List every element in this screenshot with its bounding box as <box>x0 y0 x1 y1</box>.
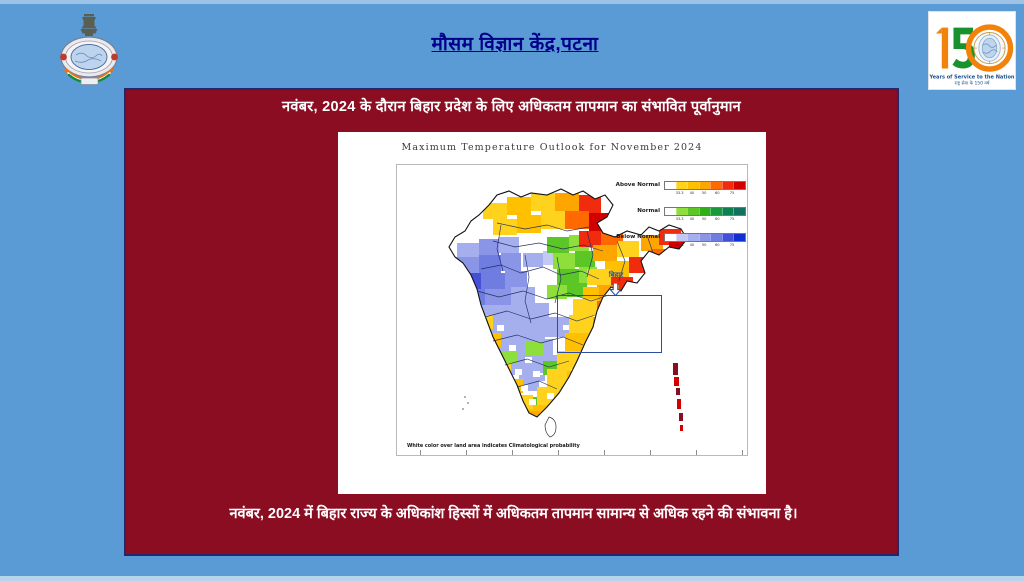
map-footnote: White color over land area indicates Cli… <box>407 443 580 449</box>
bihar-highlight-box <box>557 295 662 353</box>
slide-background: मौसम विज्ञान केंद्र,पटना <box>0 0 1024 581</box>
legend-bar-normal <box>664 207 746 216</box>
legend-ticks-above-normal: 33.3 40 50 60 75 <box>664 191 746 199</box>
legend-ticks-below-normal: 33.3 40 50 60 75 <box>664 243 746 251</box>
legend-label-below-normal: Below Normal <box>602 234 660 240</box>
legend-bar-below-normal <box>664 233 746 242</box>
legend-row-above-normal: Above Normal 33.3 40 50 60 75 <box>602 181 747 203</box>
legend-label-normal: Normal <box>602 208 660 214</box>
figure-title: Maximum Temperature Outlook for November… <box>338 142 766 153</box>
legend-row-normal: Normal 33.3 40 50 60 75 <box>602 207 747 229</box>
150-years-logo: Years of Service to the Nation राष्ट्र स… <box>928 11 1016 90</box>
panel-caption: नवंबर, 2024 में बिहार राज्य के अधिकांश ह… <box>150 502 877 527</box>
bottom-strip <box>0 576 1024 581</box>
legend-bar-above-normal <box>664 181 746 190</box>
legend-label-above-normal: Above Normal <box>602 182 660 188</box>
legend-row-below-normal: Below Normal 33.3 40 50 60 75 <box>602 233 747 255</box>
map-plot-area: Above Normal 33.3 40 50 60 75 <box>396 164 748 456</box>
map-legend: Above Normal 33.3 40 50 60 75 <box>602 181 747 259</box>
svg-text:Years of Service to the Nation: Years of Service to the Nation <box>929 74 1015 80</box>
page-title: मौसम विज्ञान केंद्र,पटना <box>300 30 730 56</box>
page-header: मौसम विज्ञान केंद्र,पटना <box>0 4 1024 88</box>
bihar-annotation-label: बिहार <box>593 271 639 280</box>
svg-text:राष्ट्र सेवा के 150 वर्ष: राष्ट्र सेवा के 150 वर्ष <box>955 81 991 87</box>
forecast-map-figure: Maximum Temperature Outlook for November… <box>338 132 766 494</box>
imd-emblem-icon <box>58 10 120 88</box>
panel-title: नवंबर, 2024 के दौरान बिहार प्रदेश के लिए… <box>126 96 897 116</box>
legend-ticks-normal: 33.3 40 50 60 75 <box>664 217 746 225</box>
forecast-panel: नवंबर, 2024 के दौरान बिहार प्रदेश के लिए… <box>124 88 899 556</box>
